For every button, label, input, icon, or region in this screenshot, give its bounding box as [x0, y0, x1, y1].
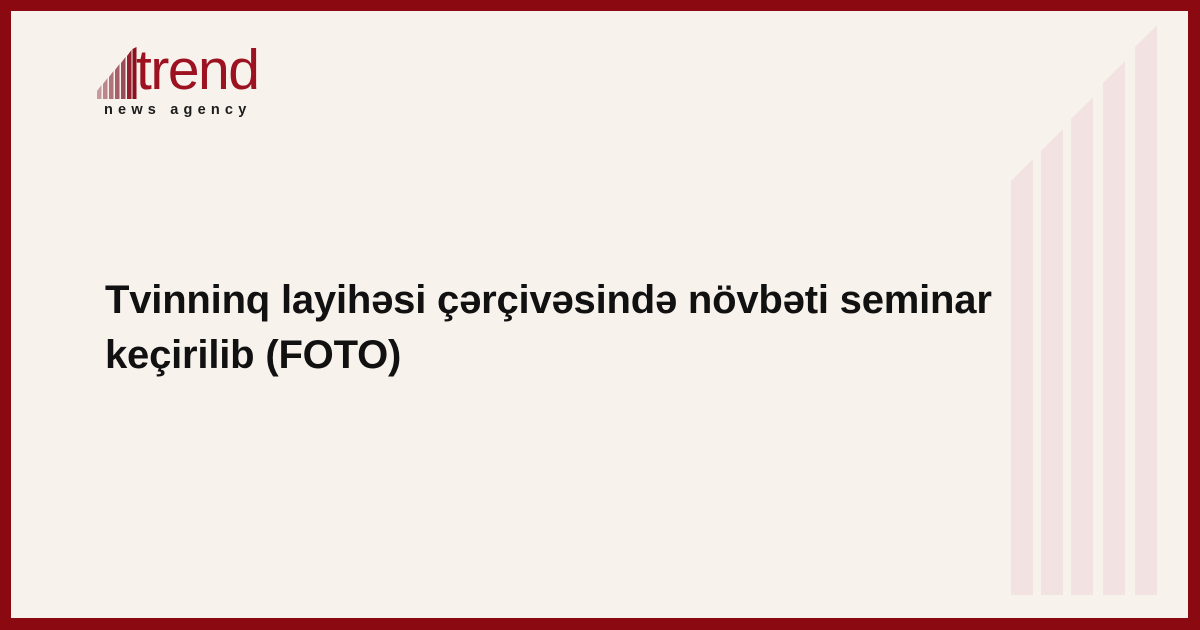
trend-bars-mark-icon [95, 47, 137, 99]
logo-mark-row: trend [95, 39, 285, 99]
watermark-bar-5 [1135, 25, 1157, 595]
trend-logo[interactable]: trend news agency [95, 39, 285, 118]
logo-wordmark: trend [136, 42, 258, 99]
watermark-bar-4 [1103, 61, 1125, 595]
page-title: Tvinninq layihəsi çərçivəsində növbəti s… [105, 273, 1105, 383]
headline-line-1: Tvinninq layihəsi çərçivəsində növbəti s… [105, 278, 992, 377]
logo-tagline: news agency [104, 102, 285, 118]
card-canvas: trend news agency Tvinninq layihəsi çərç… [11, 11, 1188, 618]
headline-line-2: (FOTO) [265, 333, 401, 377]
share-card: trend news agency Tvinninq layihəsi çərç… [0, 0, 1200, 630]
